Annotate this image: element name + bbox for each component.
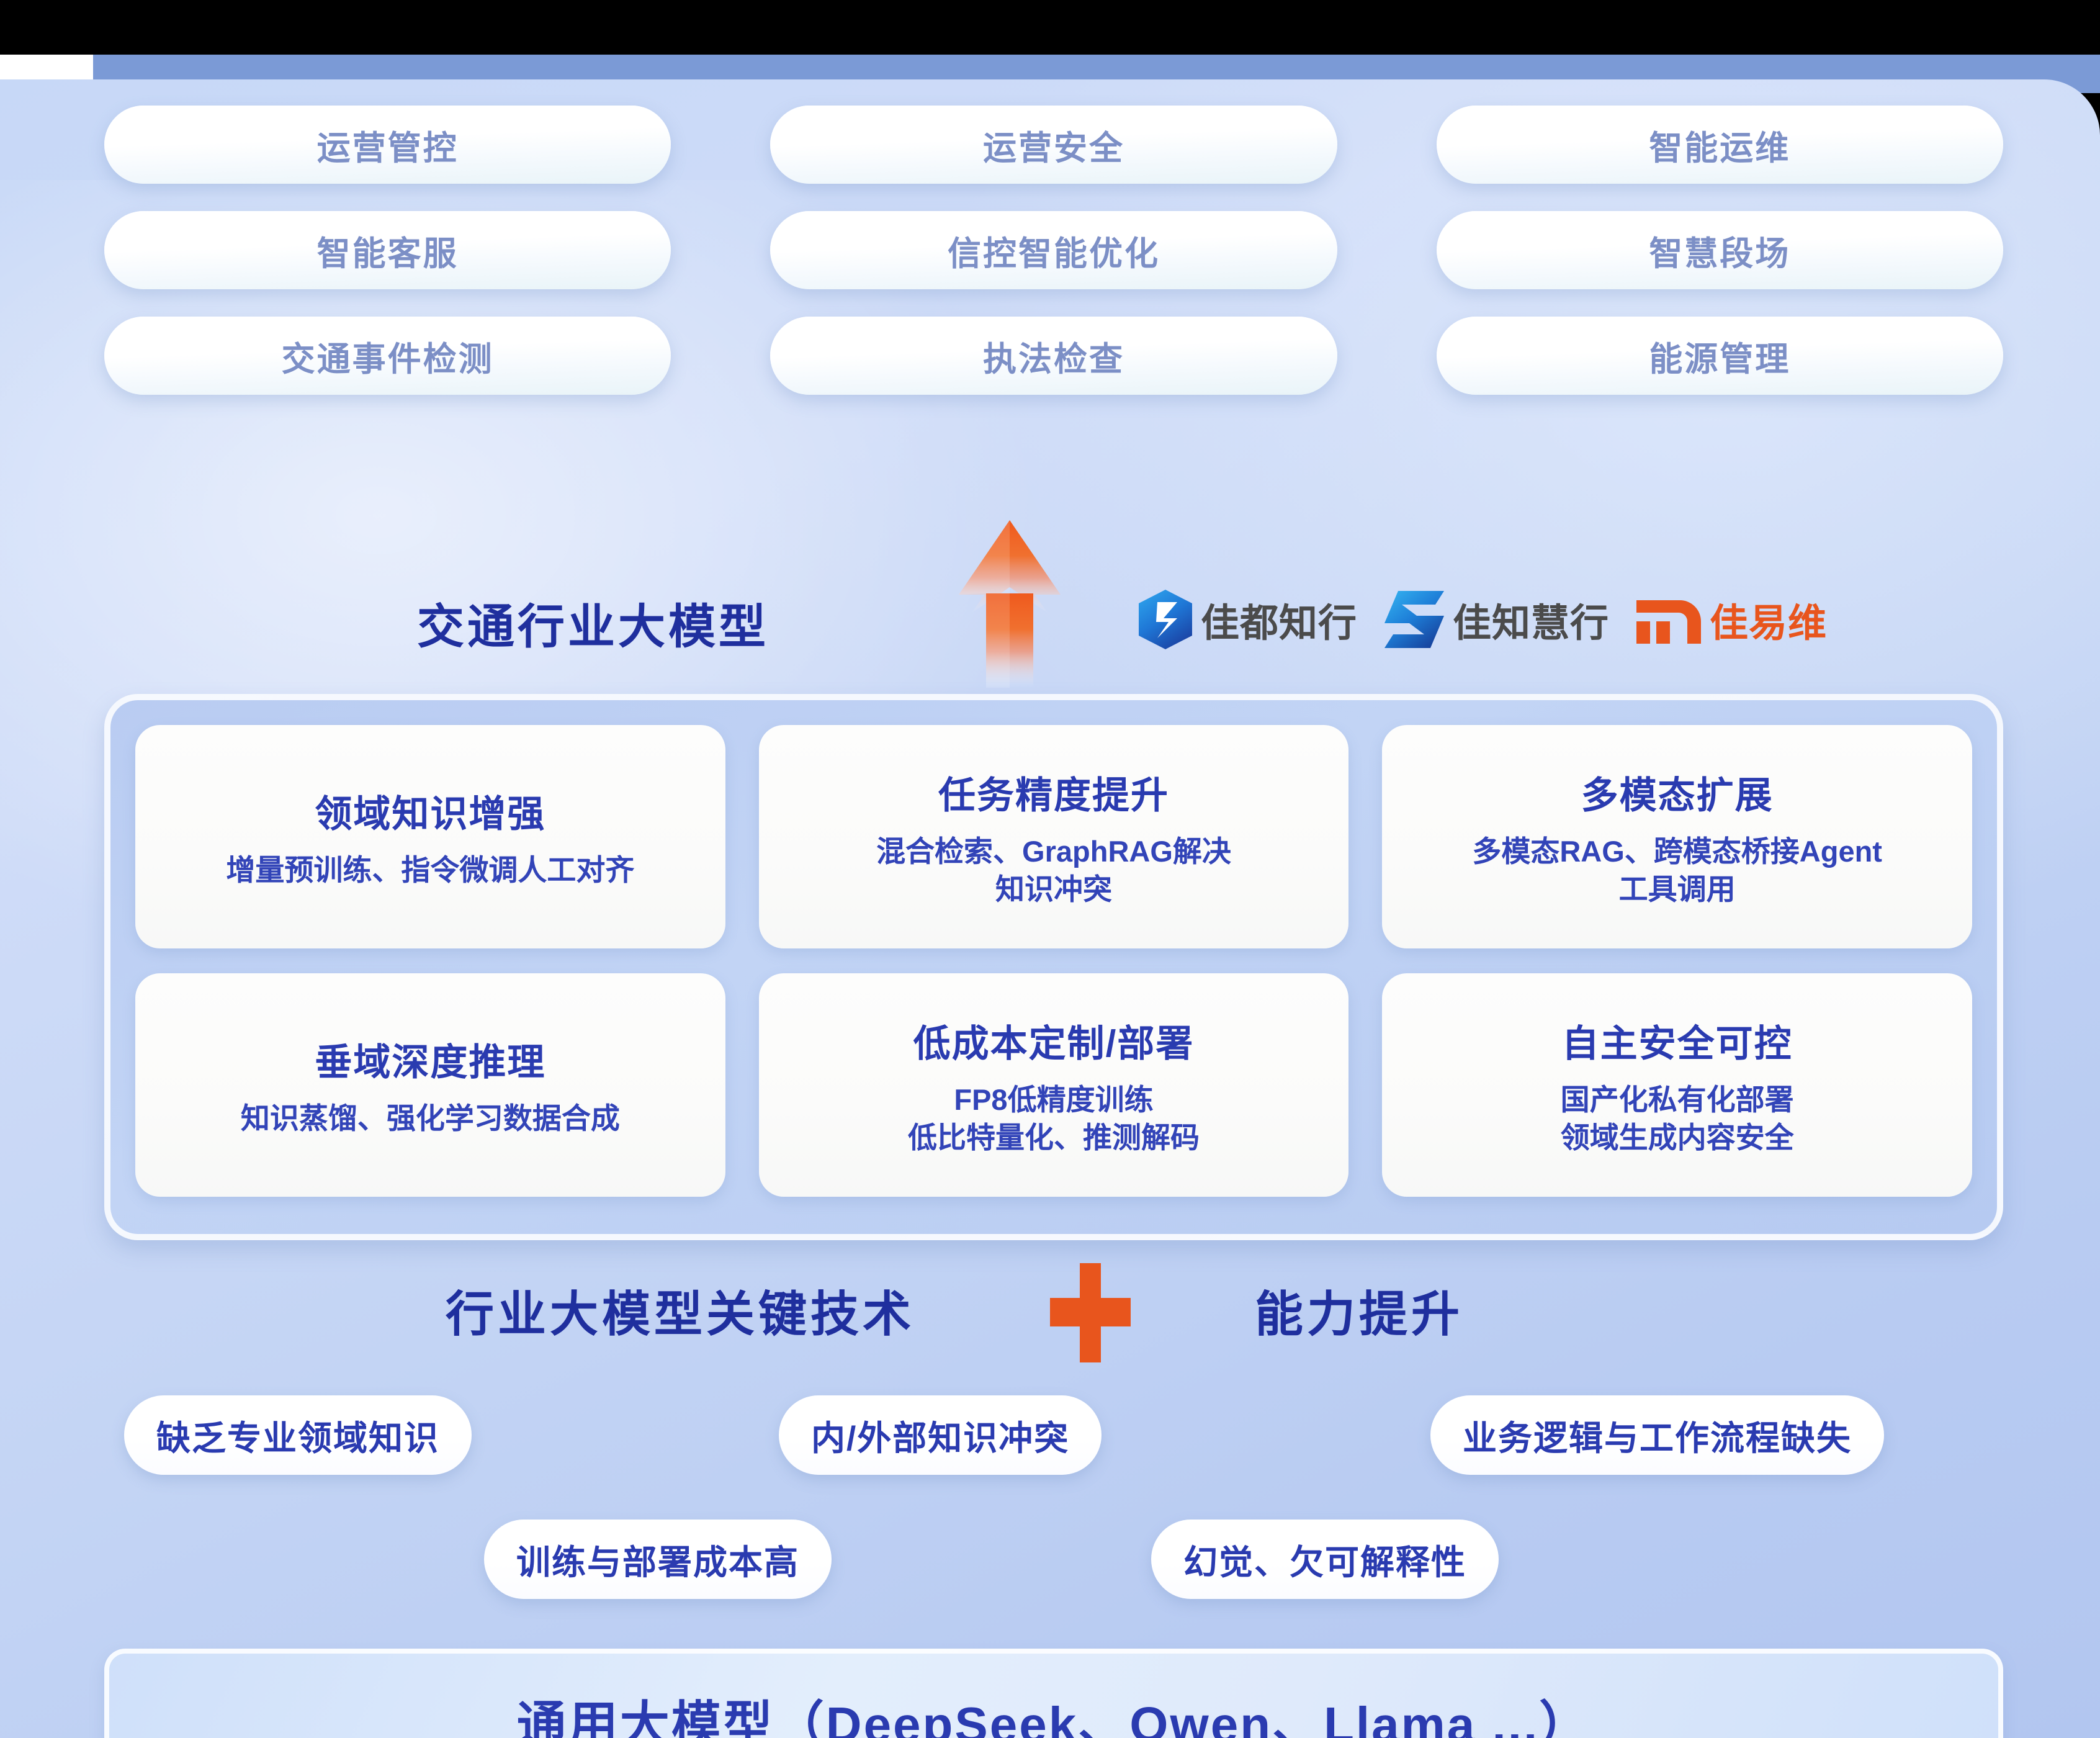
plus-icon <box>1050 1263 1131 1362</box>
brand-name: 佳易维 <box>1710 592 1827 647</box>
equation-right-label: 能力提升 <box>1255 1276 1463 1345</box>
card-domain-knowledge[interactable]: 领域知识增强 增量预训练、指令微调人工对齐 <box>135 725 725 948</box>
problem-label: 训练与部署成本高 <box>516 1534 799 1584</box>
problem-row-1: 缺乏专业领域知识 内/外部知识冲突 业务逻辑与工作流程缺失 <box>0 1395 2100 1488</box>
pill-operation-control[interactable]: 运营管控 <box>104 106 671 184</box>
lightning-s-logo-icon <box>1384 591 1444 648</box>
problem-hallucination[interactable]: 幻觉、欠可解释性 <box>1151 1520 1499 1599</box>
problem-missing-workflow[interactable]: 业务逻辑与工作流程缺失 <box>1430 1395 1884 1475</box>
brand-name: 佳都知行 <box>1201 592 1357 647</box>
pill-label: 信控智能优化 <box>948 226 1160 275</box>
pill-energy-management[interactable]: 能源管理 <box>1437 317 2003 395</box>
card-body: 国产化私有化部署领域生成内容安全 <box>1561 1081 1794 1156</box>
technology-card-grid: 领域知识增强 增量预训练、指令微调人工对齐 任务精度提升 混合检索、GraphR… <box>135 725 1972 1197</box>
pill-label: 运营安全 <box>983 120 1124 169</box>
application-pill-grid: 运营管控 运营安全 智能运维 智能客服 信控智能优化 智慧段场 交通事件检测 执… <box>104 106 2003 395</box>
problem-high-cost[interactable]: 训练与部署成本高 <box>484 1520 832 1599</box>
pill-operation-safety[interactable]: 运营安全 <box>770 106 1337 184</box>
card-title: 任务精度提升 <box>938 765 1169 819</box>
card-body: FP8低精度训练低比特量化、推测解码 <box>908 1081 1200 1156</box>
pill-label: 执法检查 <box>983 331 1124 380</box>
slide-canvas: 运营管控 运营安全 智能运维 智能客服 信控智能优化 智慧段场 交通事件检测 执… <box>0 79 2100 1738</box>
card-task-accuracy[interactable]: 任务精度提升 混合检索、GraphRAG解决知识冲突 <box>759 725 1349 948</box>
problem-row-2: 训练与部署成本高 幻觉、欠可解释性 <box>0 1520 2100 1613</box>
brand-logo-row: 佳都知行 佳知慧行 <box>1139 590 1827 649</box>
pill-law-enforcement-inspection[interactable]: 执法检查 <box>770 317 1337 395</box>
pill-label: 智慧段场 <box>1649 226 1790 275</box>
problem-label: 业务逻辑与工作流程缺失 <box>1463 1410 1852 1460</box>
pill-smart-service[interactable]: 智能客服 <box>104 211 671 289</box>
card-multimodal-extension[interactable]: 多模态扩展 多模态RAG、跨模态桥接Agent工具调用 <box>1382 725 1972 948</box>
card-autonomous-security[interactable]: 自主安全可控 国产化私有化部署领域生成内容安全 <box>1382 973 1972 1197</box>
problem-lack-domain-knowledge[interactable]: 缺乏专业领域知识 <box>124 1395 472 1475</box>
problem-label: 幻觉、欠可解释性 <box>1183 1534 1466 1584</box>
foundation-model-bar[interactable]: 通用大模型（DeepSeek、Qwen、Llama ...） <box>104 1649 2003 1738</box>
pill-signal-optimization[interactable]: 信控智能优化 <box>770 211 1337 289</box>
pill-label: 能源管理 <box>1649 331 1790 380</box>
slide-frame: 运营管控 运营安全 智能运维 智能客服 信控智能优化 智慧段场 交通事件检测 执… <box>0 0 2100 1738</box>
card-title: 多模态扩展 <box>1581 765 1774 819</box>
section-heading-row: 交通行业大模型 佳都知行 <box>0 576 2100 675</box>
foundation-model-label: 通用大模型（DeepSeek、Qwen、Llama ...） <box>517 1685 1591 1738</box>
equation-row: 行业大模型关键技术 能力提升 <box>0 1262 2100 1367</box>
card-low-cost-deployment[interactable]: 低成本定制/部署 FP8低精度训练低比特量化、推测解码 <box>759 973 1349 1197</box>
up-arrow-icon <box>948 520 1072 688</box>
pill-label: 交通事件检测 <box>282 331 494 380</box>
card-title: 自主安全可控 <box>1562 1014 1793 1068</box>
pill-smart-depot[interactable]: 智慧段场 <box>1437 211 2003 289</box>
problem-label: 缺乏专业领域知识 <box>156 1410 439 1460</box>
card-body: 混合检索、GraphRAG解决知识冲突 <box>876 833 1231 907</box>
arch-logo-icon <box>1636 595 1701 644</box>
equation-left-label: 行业大模型关键技术 <box>446 1276 915 1345</box>
problem-knowledge-conflict[interactable]: 内/外部知识冲突 <box>779 1395 1102 1475</box>
brand-jiayiwei: 佳易维 <box>1636 592 1827 647</box>
brand-jiadu-zhixing: 佳都知行 <box>1139 590 1357 649</box>
pill-label: 运营管控 <box>317 120 459 169</box>
brand-name: 佳知慧行 <box>1453 592 1609 647</box>
plus-horizontal-bar <box>1050 1298 1131 1326</box>
pill-label: 智能客服 <box>317 226 459 275</box>
hexagon-logo-icon <box>1139 590 1192 649</box>
card-title: 垂域深度推理 <box>315 1032 545 1086</box>
card-body: 多模态RAG、跨模态桥接Agent工具调用 <box>1472 833 1882 907</box>
card-vertical-reasoning[interactable]: 垂域深度推理 知识蒸馏、强化学习数据合成 <box>135 973 725 1197</box>
card-title: 低成本定制/部署 <box>913 1014 1195 1068</box>
pill-traffic-incident-detection[interactable]: 交通事件检测 <box>104 317 671 395</box>
pill-label: 智能运维 <box>1649 120 1790 169</box>
pill-intelligent-ops[interactable]: 智能运维 <box>1437 106 2003 184</box>
problem-label: 内/外部知识冲突 <box>811 1410 1069 1460</box>
key-technology-panel: 领域知识增强 增量预训练、指令微调人工对齐 任务精度提升 混合检索、GraphR… <box>104 694 2003 1240</box>
brand-jiazhi-huixing: 佳知慧行 <box>1384 591 1609 648</box>
card-body: 增量预训练、指令微调人工对齐 <box>226 852 634 889</box>
card-body: 知识蒸馏、强化学习数据合成 <box>241 1100 620 1137</box>
card-title: 领域知识增强 <box>315 784 545 838</box>
section-title: 交通行业大模型 <box>417 588 769 657</box>
